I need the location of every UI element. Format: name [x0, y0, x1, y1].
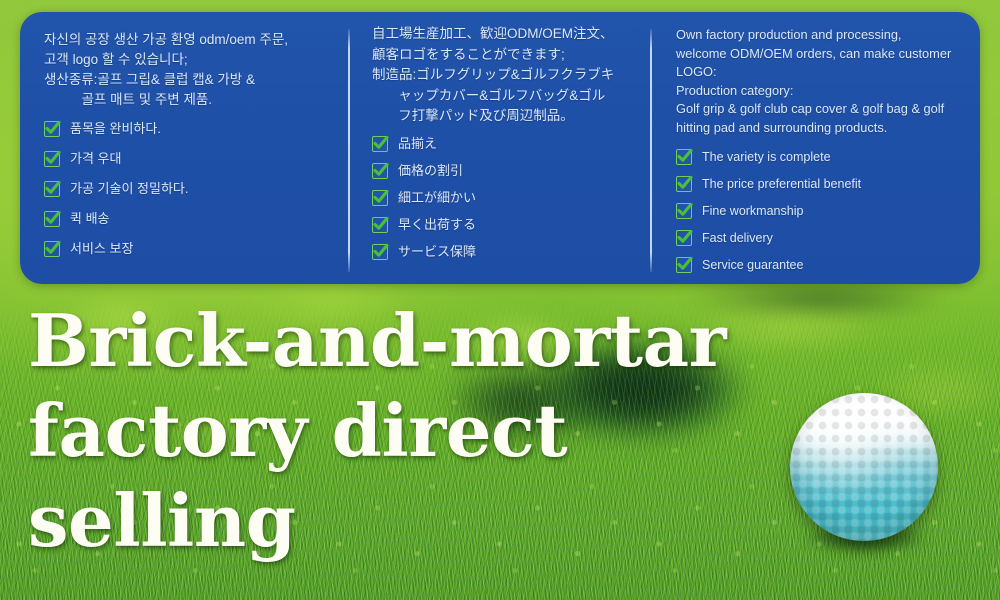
intro-line: 골프 매트 및 주변 제품. [44, 90, 336, 110]
list-item-label: Service guarantee [702, 256, 803, 274]
intro-line: ャップカバー&ゴルフバッグ&ゴル [372, 86, 640, 107]
intro-line: Own factory production and processing, [676, 26, 970, 45]
list-item: 早く出荷する [372, 212, 640, 239]
headline-line: selling [28, 476, 818, 566]
checkmark-icon [44, 211, 60, 227]
intro-line: 고객 logo 할 수 있습니다; [44, 50, 336, 70]
list-item-label: Fast delivery [702, 229, 773, 247]
intro-line: 制造品:ゴルフグリップ&ゴルフクラブキ [372, 65, 640, 86]
intro-line: LOGO: [676, 63, 970, 82]
intro-line: Golf grip & golf club cap cover & golf b… [676, 100, 970, 119]
intro-line: 自工場生産加工、歓迎ODM/OEM注文、 [372, 24, 640, 45]
feature-list-korean: 품목을 완비하다. 가격 우대 가공 기술이 정밀하다. 퀵 배송 서비스 보장 [44, 114, 336, 264]
info-column-japanese: 自工場生産加工、歓迎ODM/OEM注文、 顧客ロゴをすることができます; 制造品… [350, 12, 652, 284]
page-title: Brick-and-mortar factory direct selling [28, 296, 818, 566]
list-item: Service guarantee [676, 251, 970, 278]
list-item-label: Fine workmanship [702, 202, 803, 220]
info-column-korean: 자신의 공장 생산 가공 환영 odm/oem 주문, 고객 logo 할 수 … [20, 12, 350, 284]
feature-list-japanese: 品揃え 価格の割引 細工が細かい 早く出荷する サービス保障 [372, 131, 640, 266]
list-item-label: 가격 우대 [70, 150, 121, 168]
checkmark-icon [676, 203, 692, 219]
checkmark-icon [676, 149, 692, 165]
list-item-label: 品揃え [398, 135, 437, 153]
list-item: 서비스 보장 [44, 234, 336, 264]
intro-line: フ打撃パッド及び周辺制品。 [372, 106, 640, 127]
checkmark-icon [44, 151, 60, 167]
list-item-label: 細工が細かい [398, 189, 476, 207]
checkmark-icon [372, 163, 388, 179]
list-item-label: 서비스 보장 [70, 240, 133, 258]
list-item: 품목을 완비하다. [44, 114, 336, 144]
intro-line: Production category: [676, 82, 970, 101]
intro-text-japanese: 自工場生産加工、歓迎ODM/OEM注文、 顧客ロゴをすることができます; 制造品… [372, 24, 640, 127]
promotional-banner: 자신의 공장 생산 가공 환영 odm/oem 주문, 고객 logo 할 수 … [0, 0, 1000, 600]
intro-line: welcome ODM/OEM orders, can make custome… [676, 45, 970, 64]
intro-text-korean: 자신의 공장 생산 가공 환영 odm/oem 주문, 고객 logo 할 수 … [44, 30, 336, 110]
list-item: The variety is complete [676, 143, 970, 170]
checkmark-icon [676, 230, 692, 246]
list-item: サービス保障 [372, 239, 640, 266]
list-item-label: 품목을 완비하다. [70, 120, 161, 138]
list-item: 細工が細かい [372, 185, 640, 212]
checkmark-icon [372, 244, 388, 260]
checkmark-icon [44, 241, 60, 257]
checkmark-icon [676, 257, 692, 273]
list-item-label: 価格の割引 [398, 162, 463, 180]
intro-text-english: Own factory production and processing, w… [676, 26, 970, 137]
intro-line: hitting pad and surrounding products. [676, 119, 970, 138]
checkmark-icon [44, 181, 60, 197]
list-item-label: サービス保障 [398, 243, 476, 261]
list-item: Fast delivery [676, 224, 970, 251]
list-item-label: 퀵 배송 [70, 210, 110, 228]
intro-line: 자신의 공장 생산 가공 환영 odm/oem 주문, [44, 30, 336, 50]
checkmark-icon [372, 217, 388, 233]
checkmark-icon [676, 176, 692, 192]
intro-line: 顧客ロゴをすることができます; [372, 45, 640, 66]
list-item: 가공 기술이 정밀하다. [44, 174, 336, 204]
list-item-label: The variety is complete [702, 148, 831, 166]
info-column-english: Own factory production and processing, w… [652, 12, 980, 284]
list-item: 퀵 배송 [44, 204, 336, 234]
list-item: Fine workmanship [676, 197, 970, 224]
list-item-label: The price preferential benefit [702, 175, 861, 193]
list-item: 가격 우대 [44, 144, 336, 174]
list-item: 品揃え [372, 131, 640, 158]
headline-line: Brick-and-mortar [28, 296, 818, 386]
list-item-label: 早く出荷する [398, 216, 476, 234]
list-item-label: 가공 기술이 정밀하다. [70, 180, 188, 198]
headline-line: factory direct [28, 386, 818, 476]
intro-line: 생산종류:골프 그립& 클럽 캡& 가방 & [44, 70, 336, 90]
checkmark-icon [44, 121, 60, 137]
list-item: 価格の割引 [372, 158, 640, 185]
product-info-panel: 자신의 공장 생산 가공 환영 odm/oem 주문, 고객 logo 할 수 … [20, 12, 980, 284]
checkmark-icon [372, 136, 388, 152]
feature-list-english: The variety is complete The price prefer… [676, 143, 970, 278]
list-item: The price preferential benefit [676, 170, 970, 197]
checkmark-icon [372, 190, 388, 206]
